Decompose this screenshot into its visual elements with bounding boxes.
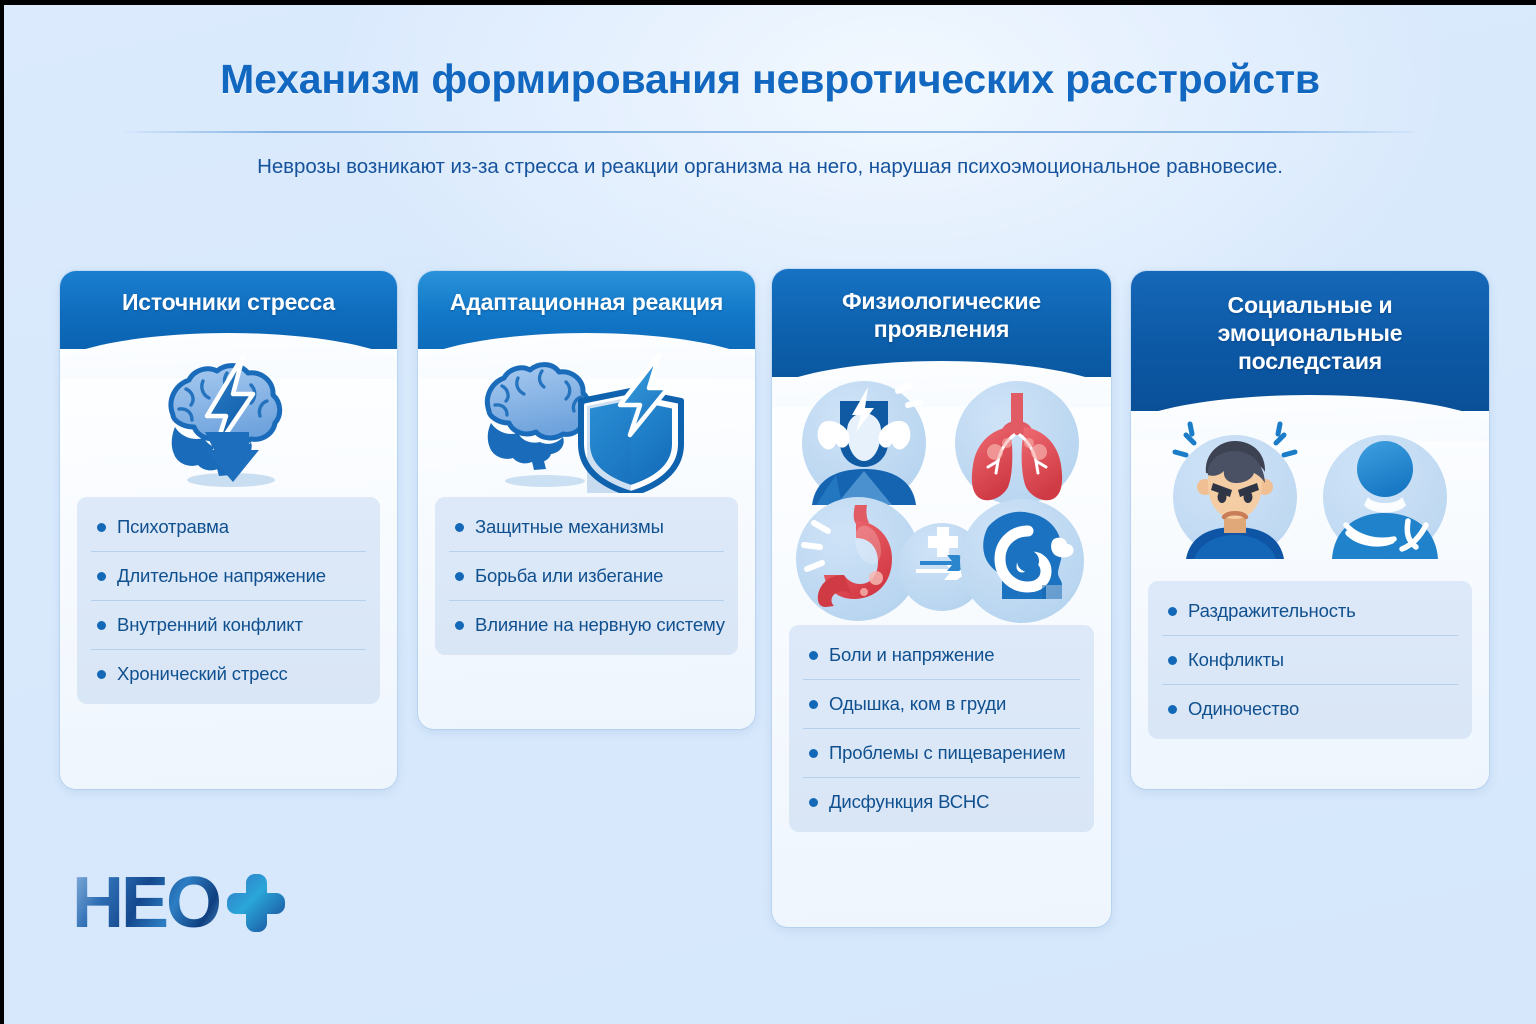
bullet-dot-icon	[1168, 705, 1177, 714]
list-item[interactable]: Боли и напряжение	[803, 631, 1080, 680]
brand-logo: НЕО	[72, 867, 285, 939]
bullet-dot-icon	[1168, 607, 1177, 616]
bullet-dot-icon	[97, 621, 106, 630]
bullet-list: Психотравма Длительное напряжение Внутре…	[77, 497, 380, 704]
bullet-dot-icon	[455, 621, 464, 630]
social-emotional-icons-group	[1160, 421, 1460, 571]
list-item[interactable]: Психотравма	[91, 503, 366, 552]
bullet-dot-icon	[809, 749, 818, 758]
card-icon-area	[772, 377, 1111, 625]
list-item[interactable]: Проблемы с пищеварением	[803, 729, 1080, 778]
list-item-label: Боли и напряжение	[829, 644, 994, 666]
card-icon-area	[418, 349, 755, 497]
card-title: Источники стресса	[122, 288, 335, 316]
card-header: Физиологические проявления	[772, 269, 1111, 377]
card-physiological-manifestations[interactable]: Физиологические проявления	[772, 269, 1111, 927]
bullet-dot-icon	[455, 572, 464, 581]
card-title: Физиологические проявления	[786, 287, 1097, 343]
bullet-list: Раздражительность Конфликты Одиночество	[1148, 581, 1472, 739]
list-item-label: Дисфункция ВСНС	[829, 791, 989, 813]
list-item-label: Длительное напряжение	[117, 565, 326, 587]
list-item[interactable]: Одиночество	[1162, 685, 1458, 733]
list-item-label: Одышка, ком в груди	[829, 693, 1006, 715]
card-icon-area	[1131, 411, 1489, 581]
card-title: Адаптационная реакция	[450, 288, 723, 316]
headache-person-icon	[802, 381, 926, 505]
list-item-label: Внутренний конфликт	[117, 614, 303, 636]
bullet-dot-icon	[809, 651, 818, 660]
list-item-label: Проблемы с пищеварением	[829, 742, 1066, 764]
card-sources-of-stress[interactable]: Источники стресса	[60, 271, 397, 789]
card-header: Адаптационная реакция	[418, 271, 755, 349]
list-item[interactable]: Защитные механизмы	[449, 503, 724, 552]
lungs-icon	[955, 381, 1079, 505]
list-item-label: Психотравма	[117, 516, 229, 538]
list-item-label: Защитные механизмы	[475, 516, 664, 538]
plus-icon	[227, 874, 285, 932]
bullet-list: Боли и напряжение Одышка, ком в груди Пр…	[789, 625, 1094, 832]
bullet-dot-icon	[455, 523, 464, 532]
bullet-dot-icon	[809, 700, 818, 709]
card-header: Источники стресса	[60, 271, 397, 349]
card-adaptive-reaction[interactable]: Адаптационная реакция	[418, 271, 755, 729]
bullet-dot-icon	[97, 670, 106, 679]
bullet-dot-icon	[97, 572, 106, 581]
list-item[interactable]: Борьба или избегание	[449, 552, 724, 601]
list-item[interactable]: Одышка, ком в груди	[803, 680, 1080, 729]
head-nervous-system-icon	[960, 499, 1084, 623]
bullet-dot-icon	[1168, 656, 1177, 665]
list-item[interactable]: Влияние на нервную систему	[449, 601, 724, 649]
bullet-dot-icon	[809, 798, 818, 807]
card-social-emotional-consequences[interactable]: Социальные и эмоциональные последстаия	[1131, 271, 1489, 789]
lonely-person-icon	[1323, 435, 1447, 559]
infographic-canvas: Механизм формирования невротических расс…	[0, 0, 1536, 1024]
cards-row: Источники стресса	[4, 269, 1536, 969]
page-header: Механизм формирования невротических расс…	[4, 57, 1536, 179]
list-item-label: Борьба или избегание	[475, 565, 663, 587]
logo-wordmark: НЕО	[72, 867, 219, 939]
list-item[interactable]: Длительное напряжение	[91, 552, 366, 601]
list-item-label: Конфликты	[1188, 649, 1284, 671]
list-item-label: Хронический стресс	[117, 663, 288, 685]
list-item[interactable]: Дисфункция ВСНС	[803, 778, 1080, 826]
bullet-list: Защитные механизмы Борьба или избегание …	[435, 497, 738, 655]
page-subtitle: Неврозы возникают из-за стресса и реакци…	[4, 155, 1536, 179]
physiological-icons-group	[792, 379, 1092, 623]
list-item[interactable]: Конфликты	[1162, 636, 1458, 685]
brain-shield-lightning-icon	[473, 353, 701, 493]
list-item[interactable]: Внутренний конфликт	[91, 601, 366, 650]
title-divider	[125, 131, 1415, 133]
bullet-dot-icon	[97, 523, 106, 532]
card-title: Социальные и эмоциональные последстаия	[1145, 291, 1475, 375]
card-icon-area	[60, 349, 397, 497]
brain-lightning-icon	[139, 353, 319, 493]
card-header: Социальные и эмоциональные последстаия	[1131, 271, 1489, 411]
list-item-label: Влияние на нервную систему	[475, 614, 725, 636]
list-item[interactable]: Раздражительность	[1162, 587, 1458, 636]
list-item[interactable]: Хронический стресс	[91, 650, 366, 698]
page-title: Механизм формирования невротических расс…	[4, 57, 1536, 103]
list-item-label: Раздражительность	[1188, 600, 1356, 622]
list-item-label: Одиночество	[1188, 698, 1299, 720]
angry-face-icon	[1173, 424, 1297, 559]
